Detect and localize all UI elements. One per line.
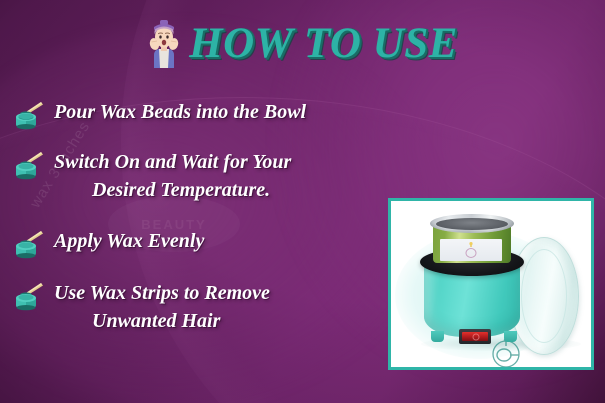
list-item-text: Apply Wax Evenly — [54, 227, 204, 255]
list-item: Pour Wax Beads into the Bowl — [0, 98, 605, 128]
list-item-text: Use Wax Strips to Remove Unwanted Hair — [54, 279, 270, 336]
list-item-line-1: Apply Wax Evenly — [54, 230, 204, 252]
wax-can-rim — [430, 214, 514, 233]
product-image-frame: KRINKS — [388, 198, 594, 370]
wax-can-label — [440, 239, 502, 261]
wax-pot-with-applicator-icon — [12, 229, 48, 259]
list-item: Switch On and Wait for Your Desired Temp… — [0, 148, 605, 205]
can-label-logo-icon — [461, 242, 481, 259]
power-rocker-switch-button[interactable] — [462, 332, 488, 341]
warmer-foot-left — [431, 331, 444, 342]
power-rocker-switch[interactable] — [459, 329, 491, 344]
product-brand-name: KRINKS — [483, 367, 529, 370]
list-item-line-1: Use Wax Strips to Remove — [54, 282, 270, 304]
warmer-foot-right — [504, 331, 517, 342]
header: HOW TO USE — [0, 12, 605, 74]
list-item-line-1: Pour Wax Beads into the Bowl — [54, 101, 306, 123]
list-item-line-1: Switch On and Wait for Your — [54, 151, 291, 173]
wax-pot-with-applicator-icon — [12, 281, 48, 311]
page-title: HOW TO USE — [189, 19, 458, 68]
product-photo: KRINKS — [391, 201, 591, 367]
woman-hands-on-cheeks-emoji — [147, 18, 181, 68]
wax-pot-with-applicator-icon — [12, 150, 48, 180]
list-item-line-2: Unwanted Hair — [54, 307, 270, 335]
list-item-line-2: Desired Temperature. — [54, 176, 291, 204]
wax-pot-with-applicator-icon — [12, 100, 48, 130]
krinks-circle-logo — [486, 337, 526, 370]
list-item-text: Pour Wax Beads into the Bowl — [54, 98, 306, 126]
how-to-use-poster: BEAUTY wax 3 inches — [0, 0, 605, 403]
list-item-text: Switch On and Wait for Your Desired Temp… — [54, 148, 291, 205]
